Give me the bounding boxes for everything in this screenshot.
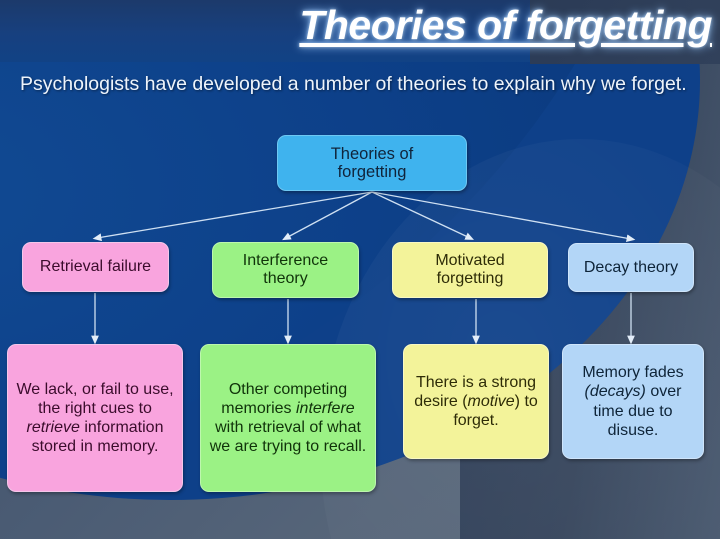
diagram-detail-interference-theory[interactable]: Other competing memories interfere with … — [200, 344, 376, 492]
detail-decay-theory-text: Memory fades (decays) over time due to d… — [569, 363, 697, 440]
diagram-node-root[interactable]: Theories of forgetting — [277, 135, 467, 191]
detail-retrieval-failure-text: We lack, or fail to use, the right cues … — [14, 380, 176, 457]
slide: Theories of forgetting Psychologists hav… — [0, 0, 720, 539]
diagram-node-motivated-forgetting[interactable]: Motivated forgetting — [392, 242, 548, 298]
node-interference-theory-label: Interference theory — [243, 252, 328, 288]
detail-interference-theory-text: Other competing memories interfere with … — [207, 380, 369, 457]
diagram-detail-decay-theory[interactable]: Memory fades (decays) over time due to d… — [562, 344, 704, 459]
node-motivated-forgetting-label: Motivated forgetting — [435, 252, 504, 288]
node-root-label: Theories of forgetting — [331, 145, 414, 182]
node-decay-theory-label: Decay theory — [584, 259, 678, 277]
detail-motivated-forgetting-text: There is a strong desire (motive) to for… — [410, 373, 542, 431]
diagram-node-decay-theory[interactable]: Decay theory — [568, 243, 694, 292]
diagram-node-retrieval-failure[interactable]: Retrieval failure — [22, 242, 169, 292]
node-retrieval-failure-label: Retrieval failure — [40, 258, 151, 276]
diagram-detail-motivated-forgetting[interactable]: There is a strong desire (motive) to for… — [403, 344, 549, 459]
diagram-node-interference-theory[interactable]: Interference theory — [212, 242, 359, 298]
page-title: Theories of forgetting — [299, 2, 712, 49]
slide-subtitle: Psychologists have developed a number of… — [20, 72, 690, 98]
diagram-detail-retrieval-failure[interactable]: We lack, or fail to use, the right cues … — [7, 344, 183, 492]
